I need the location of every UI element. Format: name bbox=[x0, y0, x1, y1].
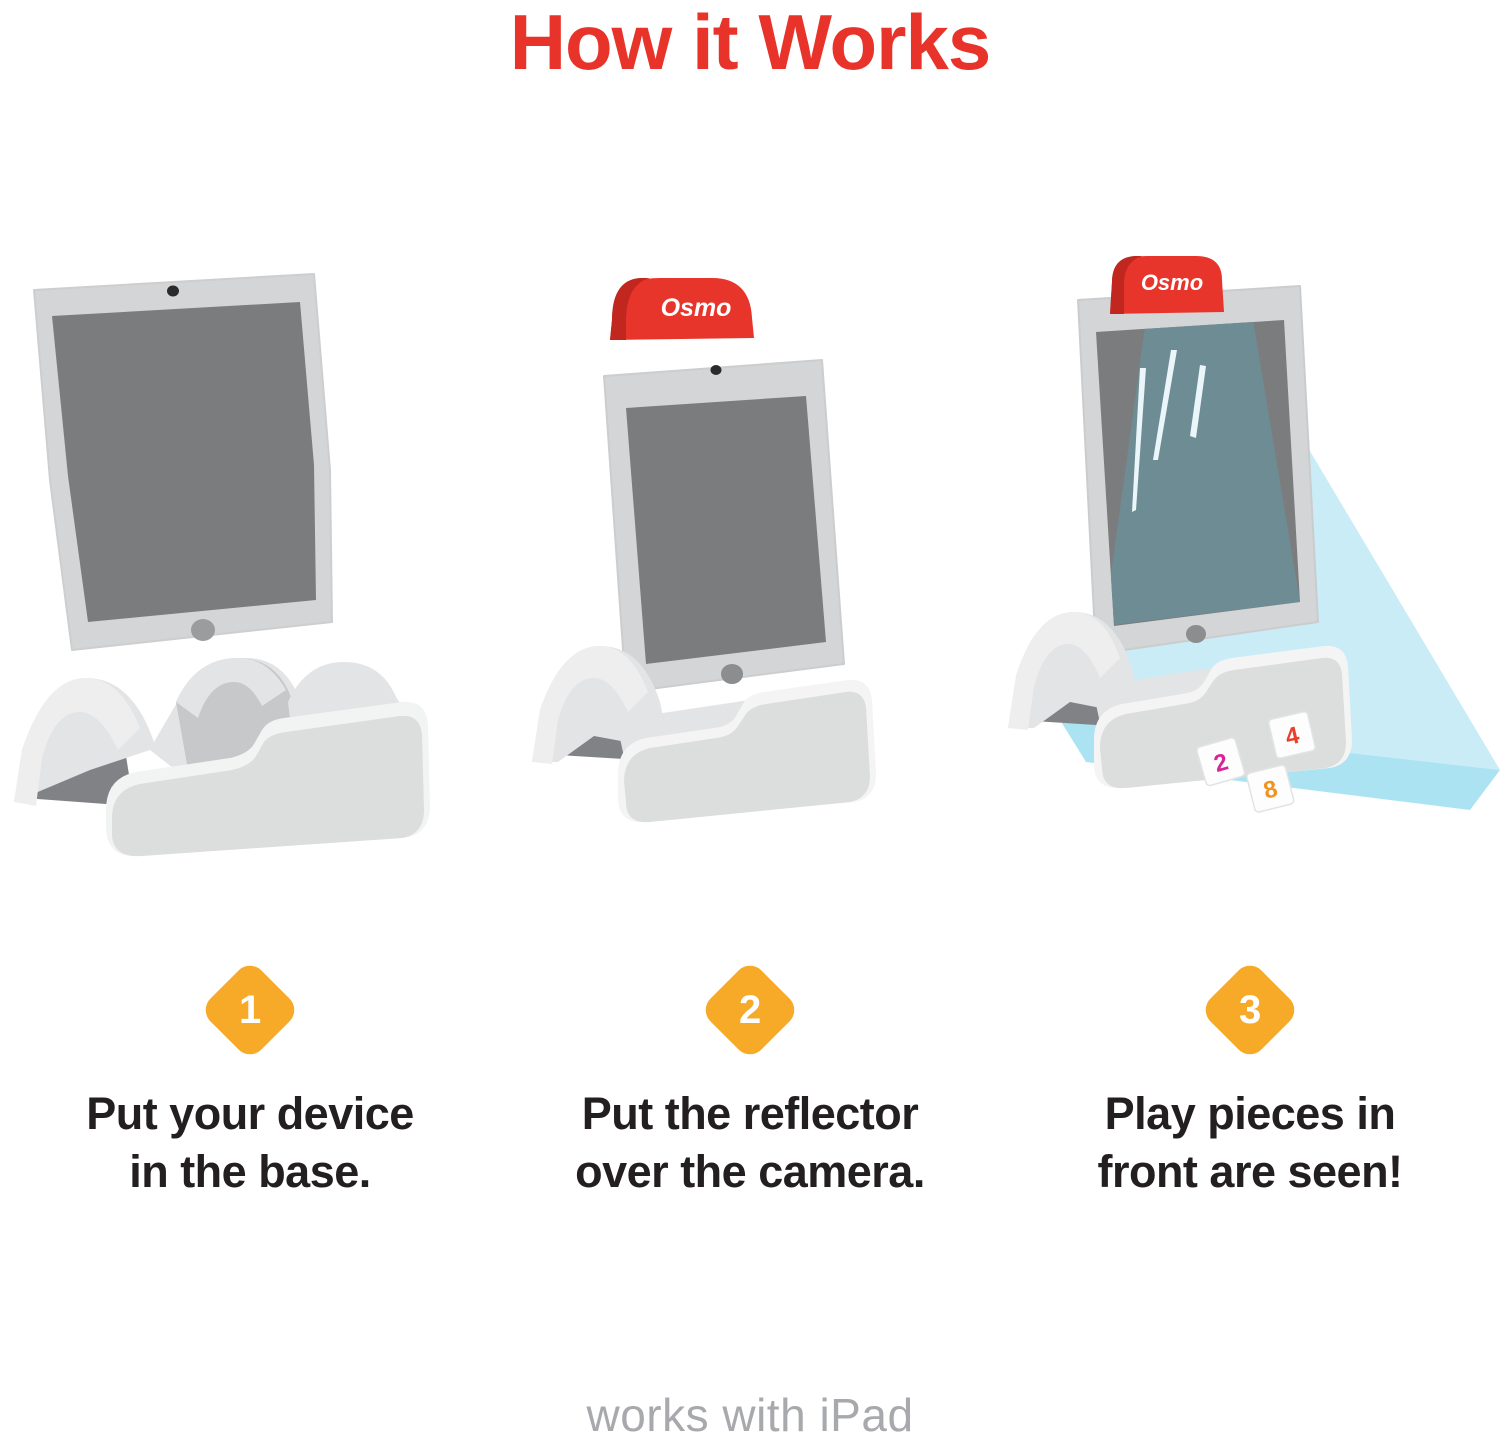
step-3-illustration: Osmo 2 4 bbox=[1000, 250, 1500, 850]
step-2-illustration: Osmo bbox=[500, 250, 1000, 850]
step-caption-3: Play pieces in front are seen! bbox=[1015, 1085, 1485, 1200]
badge-cell-1: 1 bbox=[0, 955, 500, 1065]
step-1-illustration bbox=[0, 250, 500, 850]
step-caption-1-line1: Put your device bbox=[15, 1085, 485, 1143]
step-badge-1: 1 bbox=[199, 959, 301, 1061]
front-camera-icon bbox=[167, 286, 179, 297]
tablet-screen bbox=[626, 396, 826, 664]
reflector-floating: Osmo bbox=[610, 278, 754, 340]
steps-illustrations: Osmo bbox=[0, 250, 1500, 850]
step-badge-2-number: 2 bbox=[739, 990, 761, 1030]
step-caption-3-line2: front are seen! bbox=[1015, 1143, 1485, 1201]
game-tile: 4 bbox=[1268, 711, 1316, 759]
step-number-badges: 1 2 3 bbox=[0, 955, 1500, 1065]
step-badge-3-number: 3 bbox=[1239, 990, 1261, 1030]
step-captions: Put your device in the base. Put the ref… bbox=[0, 1085, 1500, 1235]
game-tile: 8 bbox=[1246, 764, 1294, 812]
step-badge-2: 2 bbox=[699, 959, 801, 1061]
reflector-brand-label: Osmo bbox=[1141, 270, 1203, 295]
tablet-device bbox=[604, 360, 844, 692]
badge-cell-3: 3 bbox=[1000, 955, 1500, 1065]
page-title: How it Works bbox=[0, 2, 1500, 84]
tablet-above-base-illustration bbox=[0, 250, 500, 850]
front-camera-icon bbox=[711, 365, 722, 375]
step-caption-2: Put the reflector over the camera. bbox=[515, 1085, 985, 1200]
step-caption-2-line2: over the camera. bbox=[515, 1143, 985, 1201]
tablet-device bbox=[34, 274, 332, 650]
reflector-brand-label: Osmo bbox=[661, 294, 732, 322]
home-button-icon bbox=[191, 619, 215, 641]
tablet-device bbox=[1078, 286, 1318, 654]
badge-cell-2: 2 bbox=[500, 955, 1000, 1065]
step-badge-3: 3 bbox=[1199, 959, 1301, 1061]
works-with-ipad-note: works with iPad bbox=[0, 1388, 1500, 1442]
step-badge-1-number: 1 bbox=[239, 990, 261, 1030]
home-button-icon bbox=[721, 664, 743, 684]
step-caption-2-line1: Put the reflector bbox=[515, 1085, 985, 1143]
step-caption-3-line1: Play pieces in bbox=[1015, 1085, 1485, 1143]
tablet-screen bbox=[52, 302, 316, 622]
tablet-projecting-light-illustration: Osmo 2 4 bbox=[1000, 250, 1500, 850]
osmo-base bbox=[14, 658, 430, 856]
reflector-mounted: Osmo bbox=[1110, 256, 1224, 314]
step-caption-1: Put your device in the base. bbox=[15, 1085, 485, 1200]
home-button-icon bbox=[1186, 625, 1206, 643]
step-caption-1-line2: in the base. bbox=[15, 1143, 485, 1201]
tablet-in-base-with-reflector-illustration: Osmo bbox=[500, 250, 1000, 850]
